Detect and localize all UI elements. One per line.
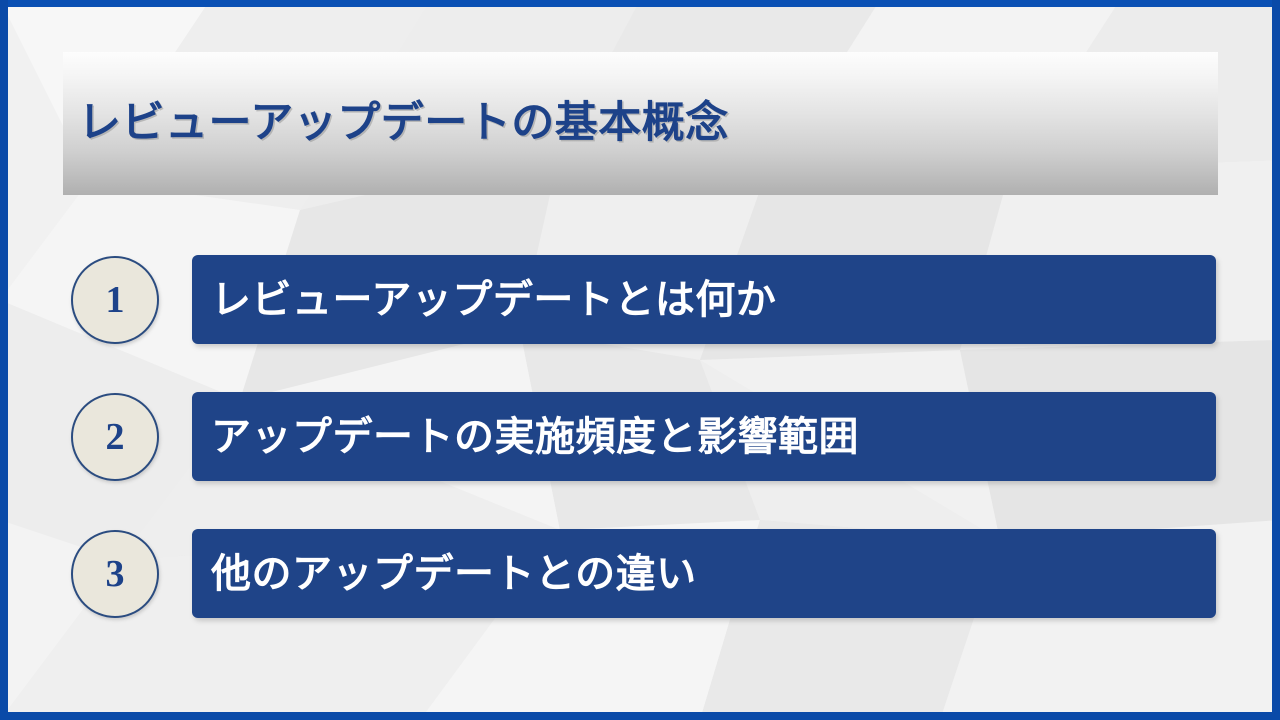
item-bar[interactable]: 他のアップデートとの違い [192, 529, 1216, 618]
frame-border-left [0, 0, 8, 720]
frame-border-right [1272, 0, 1280, 720]
item-label: 他のアップデートとの違い [211, 552, 697, 596]
item-label: レビューアップデートとは何か [211, 278, 776, 322]
item-number: 2 [106, 418, 125, 456]
item-number: 1 [106, 281, 125, 319]
list-item[interactable]: 1 レビューアップデートとは何か [0, 243, 1280, 343]
slide-title-banner: レビューアップデートの基本概念 [63, 52, 1218, 195]
item-number-badge: 2 [71, 393, 159, 481]
item-number-badge: 3 [71, 530, 159, 618]
frame-border-top [0, 0, 1280, 7]
page-title: レビューアップデートの基本概念 [78, 100, 729, 147]
item-bar[interactable]: アップデートの実施頻度と影響範囲 [192, 392, 1216, 481]
item-number: 3 [106, 555, 125, 593]
frame-border-bottom [0, 712, 1280, 720]
agenda-list: 1 レビューアップデートとは何か 2 アップデートの実施頻度と影響範囲 3 他の… [0, 243, 1280, 617]
list-item[interactable]: 2 アップデートの実施頻度と影響範囲 [0, 380, 1280, 480]
item-bar[interactable]: レビューアップデートとは何か [192, 255, 1216, 344]
presentation-slide: レビューアップデートの基本概念 1 レビューアップデートとは何か 2 アップデー… [0, 0, 1280, 720]
item-number-badge: 1 [71, 256, 159, 344]
list-item[interactable]: 3 他のアップデートとの違い [0, 517, 1280, 617]
item-label: アップデートの実施頻度と影響範囲 [211, 415, 859, 459]
